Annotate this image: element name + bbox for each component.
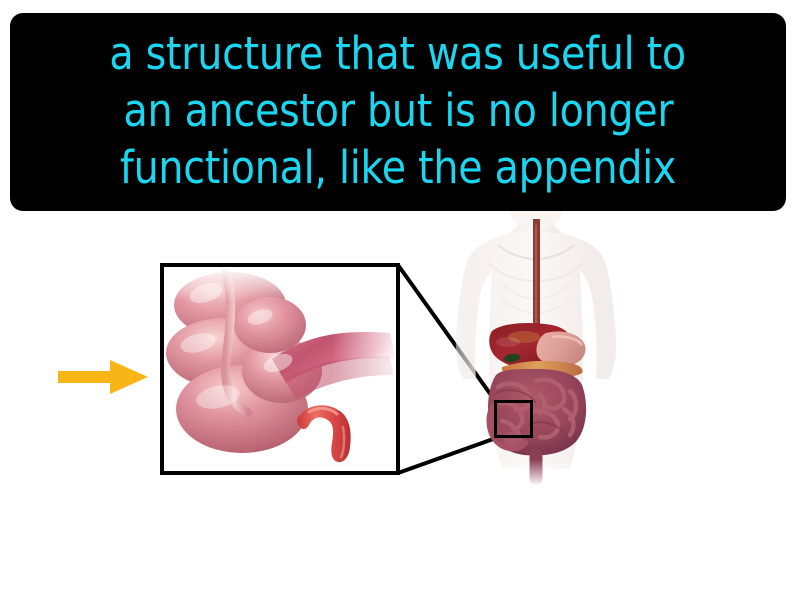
cecum-appendix-illustration (164, 267, 396, 471)
connector-lines (0, 211, 800, 600)
definition-banner: a structure that was useful to an ancest… (10, 13, 786, 211)
definition-line-1: a structure that was useful to (110, 25, 687, 82)
flashcard: a structure that was useful to an ancest… (0, 0, 800, 600)
appendix-region-highlight (494, 400, 533, 438)
illustration-area (0, 211, 800, 600)
right-arrow-icon (58, 360, 148, 394)
human-torso-figure (436, 211, 636, 486)
definition-line-3: functional, like the appendix (120, 139, 676, 196)
definition-line-2: an ancestor but is no longer (123, 82, 673, 139)
appendix-inset-frame (160, 263, 400, 475)
